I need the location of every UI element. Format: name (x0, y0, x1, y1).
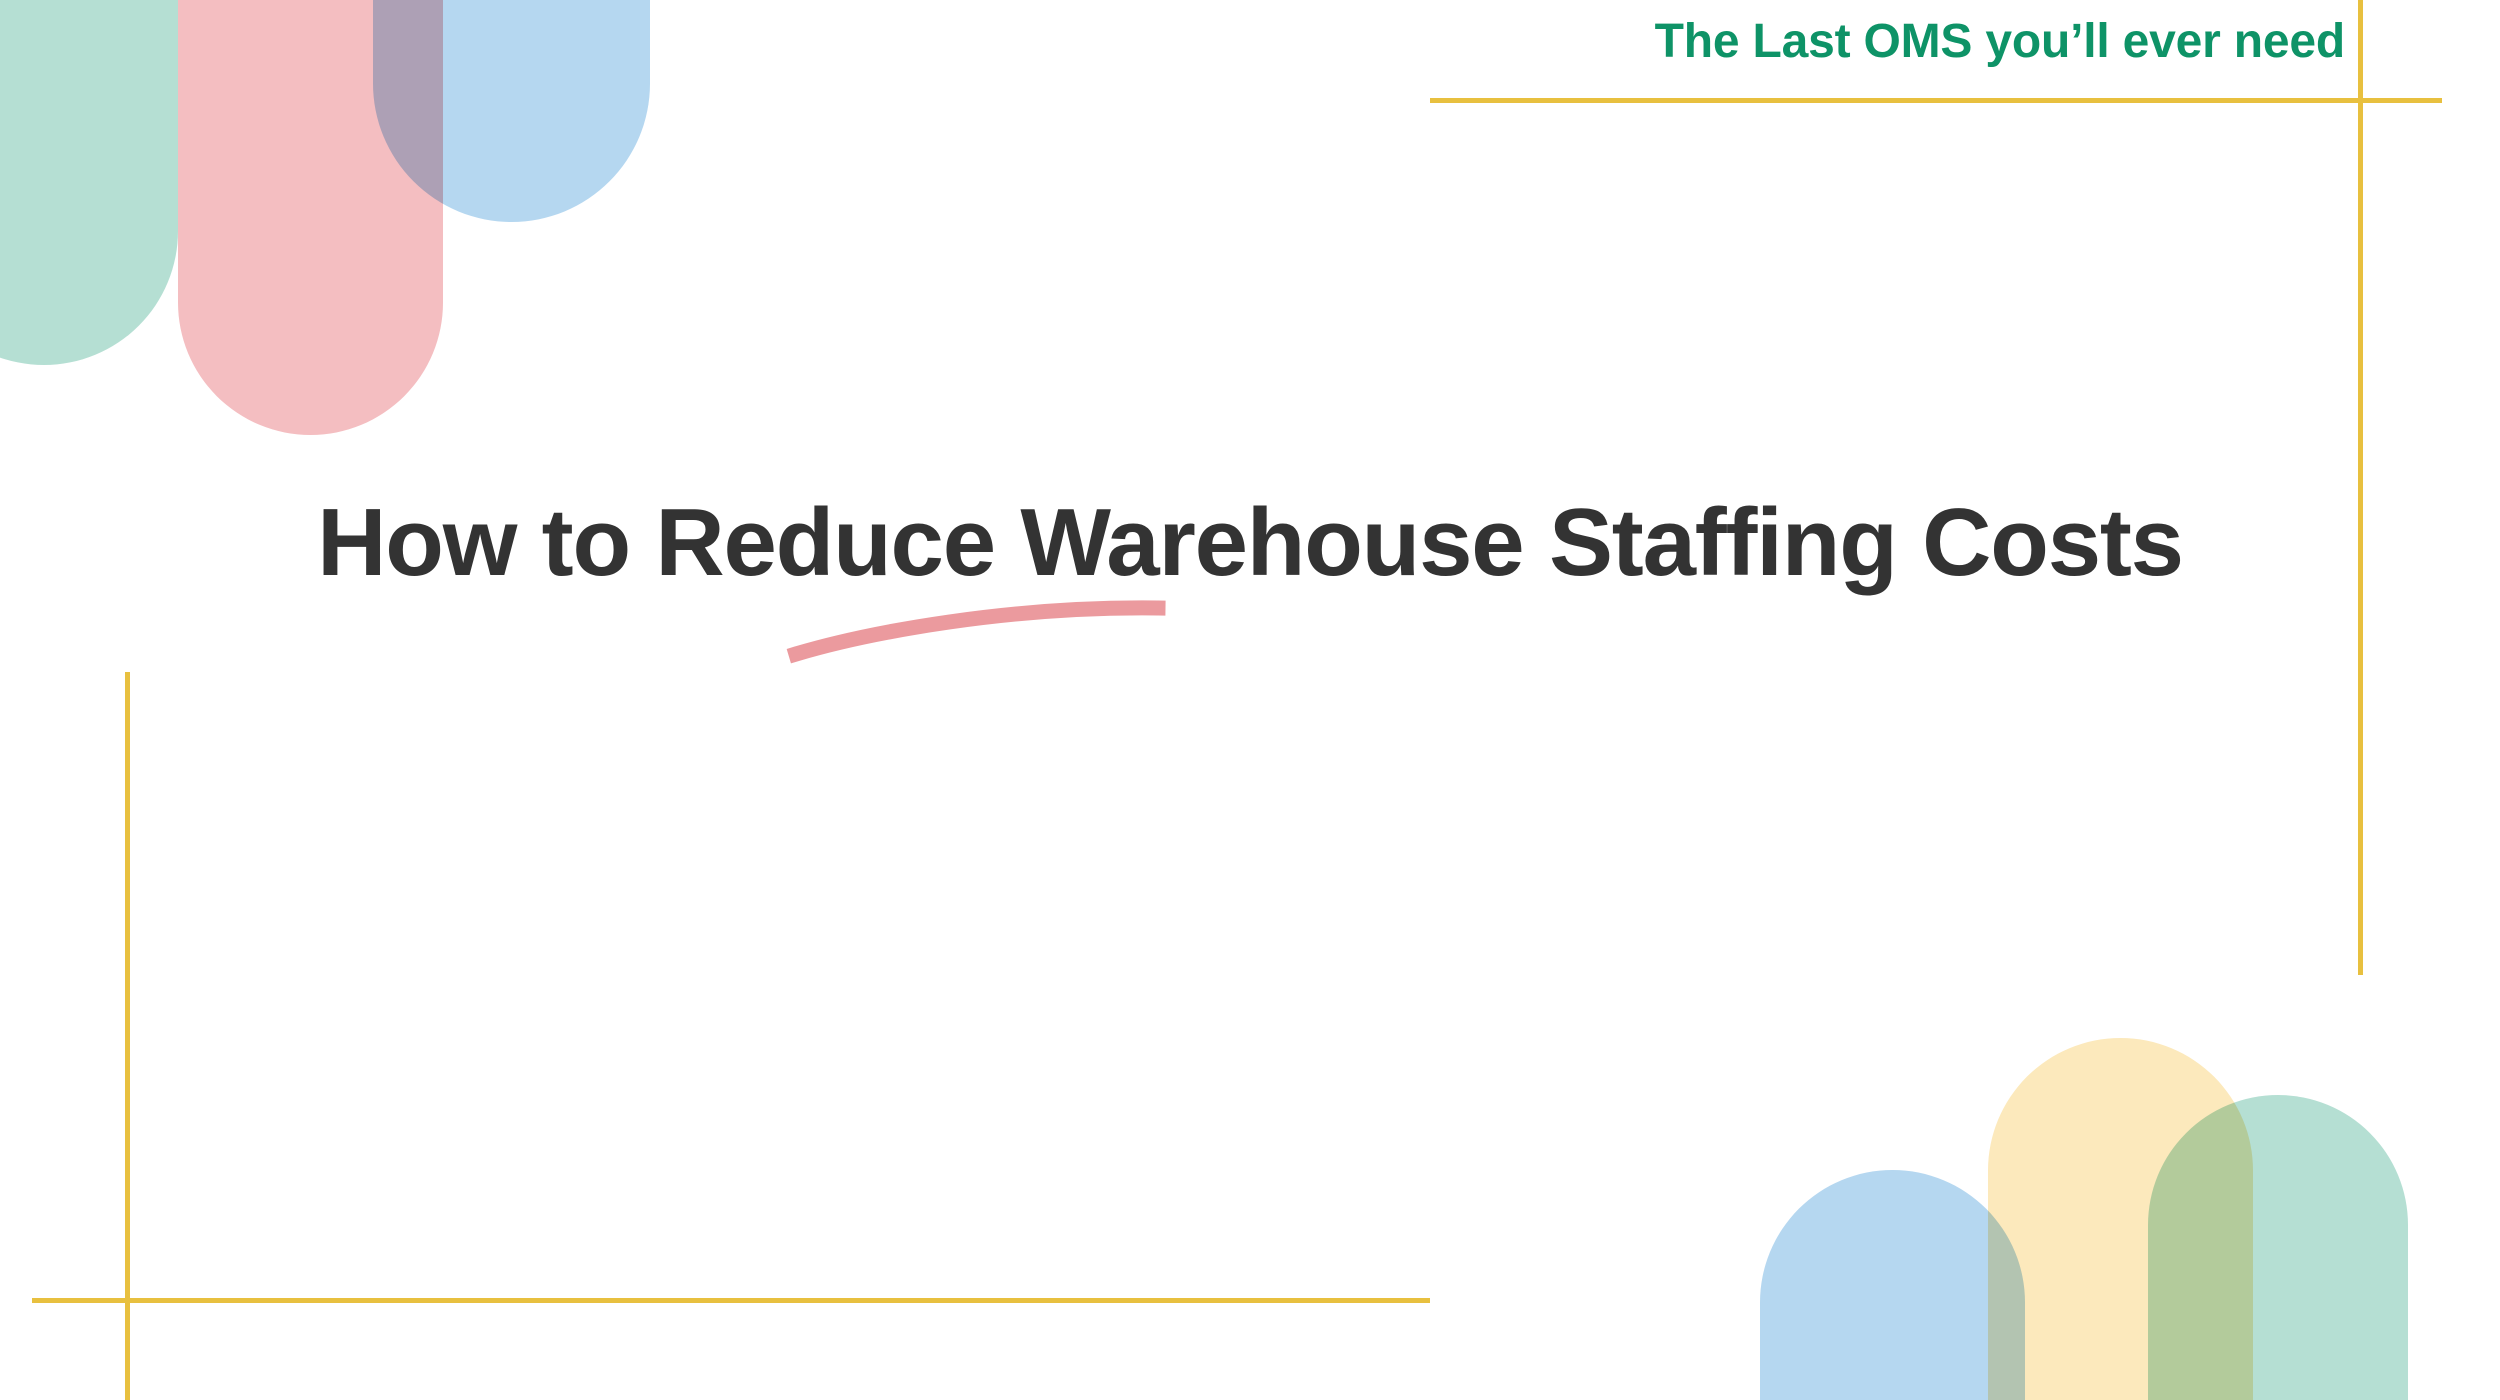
mint-arch-shape (0, 0, 178, 365)
title-slide: The Last OMS you’ll ever need How to Red… (0, 0, 2500, 1400)
left-vertical-rule (125, 672, 130, 1400)
top-left-arch-decoration (0, 0, 720, 470)
title-underline-swoosh-icon (780, 588, 1180, 668)
top-horizontal-rule (1430, 98, 2442, 103)
bottom-right-arch-decoration (1740, 930, 2500, 1400)
blue-arch-shape (1760, 1170, 2025, 1400)
tagline: The Last OMS you’ll ever need (1655, 14, 2345, 69)
mint-arch-shape (2148, 1095, 2408, 1400)
page-title: How to Reduce Warehouse Staffing Costs (317, 495, 2183, 591)
bottom-horizontal-rule (32, 1298, 1430, 1303)
right-vertical-rule (2358, 0, 2363, 975)
title-block: How to Reduce Warehouse Staffing Costs (0, 495, 2500, 591)
